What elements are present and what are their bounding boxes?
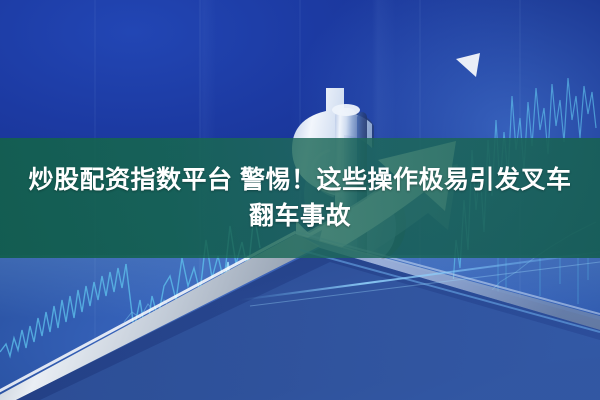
headline-block: 炒股配资指数平台 警惕！这些操作极易引发叉车 翻车事故 [0, 138, 600, 258]
promo-banner: 炒股配资指数平台 警惕！这些操作极易引发叉车 翻车事故 [0, 0, 600, 400]
headline-line-1: 炒股配资指数平台 警惕！这些操作极易引发叉车 [29, 163, 572, 197]
headline-line-2: 翻车事故 [249, 199, 351, 233]
